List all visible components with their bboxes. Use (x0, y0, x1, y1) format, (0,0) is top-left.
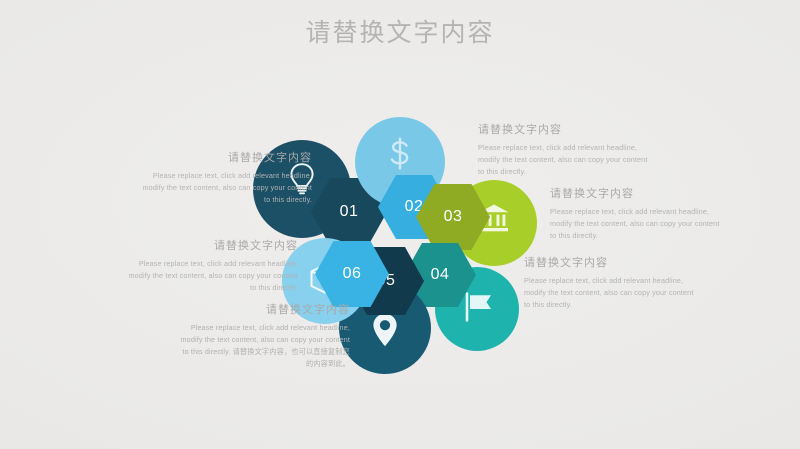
text-block-02-body: Please replace text, click add relevant … (478, 142, 650, 178)
text-block-05-heading: 请替换文字内容 (178, 304, 350, 317)
text-block-02: 请替换文字内容 Please replace text, click add r… (478, 124, 650, 178)
text-block-03-body: Please replace text, click add relevant … (550, 206, 722, 242)
segment-01-number: 01 (340, 204, 359, 220)
text-block-06-body: Please replace text, click add relevant … (126, 258, 298, 294)
text-block-04: 请替换文字内容 Please replace text, click add r… (524, 257, 696, 311)
text-block-01-heading: 请替换文字内容 (140, 152, 312, 165)
text-block-06-heading: 请替换文字内容 (126, 240, 298, 253)
text-block-01: 请替换文字内容 Please replace text, click add r… (140, 152, 312, 206)
text-block-03: 请替换文字内容 Please replace text, click add r… (550, 188, 722, 242)
text-block-01-body: Please replace text, click add relevant … (140, 170, 312, 206)
text-block-04-heading: 请替换文字内容 (524, 257, 696, 270)
text-block-05: 请替换文字内容 Please replace text, click add r… (178, 304, 350, 370)
segment-03-number: 03 (444, 209, 463, 225)
segment-04-number: 04 (431, 267, 450, 283)
segment-06-number: 06 (343, 266, 362, 282)
segment-06-hexagon[interactable]: 06 (315, 241, 389, 307)
text-block-03-heading: 请替换文字内容 (550, 188, 722, 201)
text-block-04-body: Please replace text, click add relevant … (524, 275, 696, 311)
text-block-02-heading: 请替换文字内容 (478, 124, 650, 137)
segment-03-hexagon[interactable]: 03 (416, 184, 490, 250)
slide-canvas: 请替换文字内容 01 (0, 0, 800, 449)
text-block-06: 请替换文字内容 Please replace text, click add r… (126, 240, 298, 294)
text-block-05-body: Please replace text, click add relevant … (178, 322, 350, 370)
